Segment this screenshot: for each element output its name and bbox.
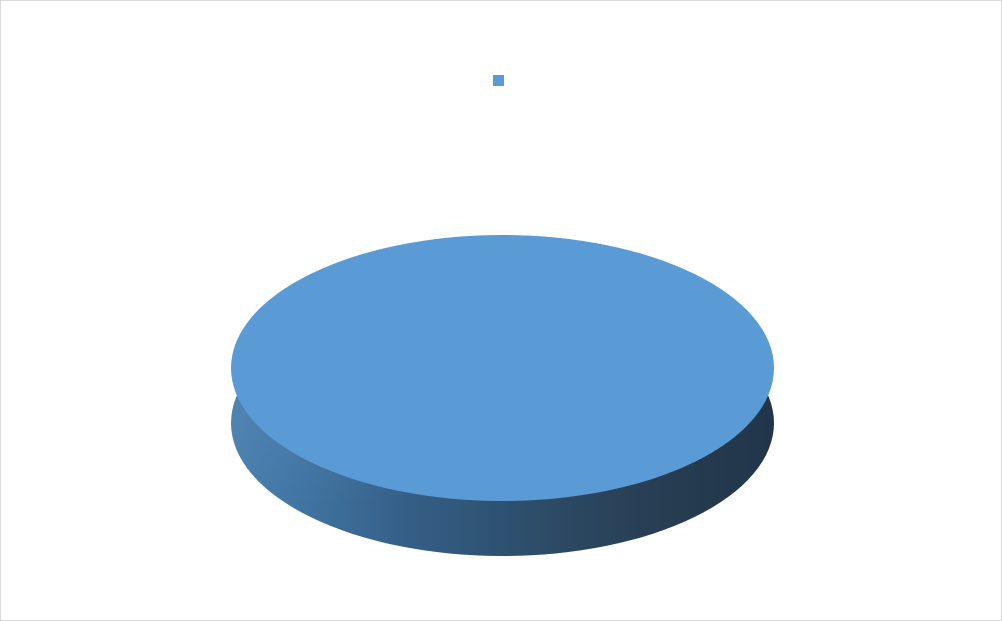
pie-slice-directors[interactable]: [231, 235, 774, 501]
legend-swatch-icon: [493, 75, 504, 86]
chart-legend: [1, 75, 1002, 86]
pie-chart-3d: [231, 235, 774, 556]
chart-frame: [0, 0, 1002, 621]
legend-entry-directors[interactable]: [493, 75, 511, 86]
